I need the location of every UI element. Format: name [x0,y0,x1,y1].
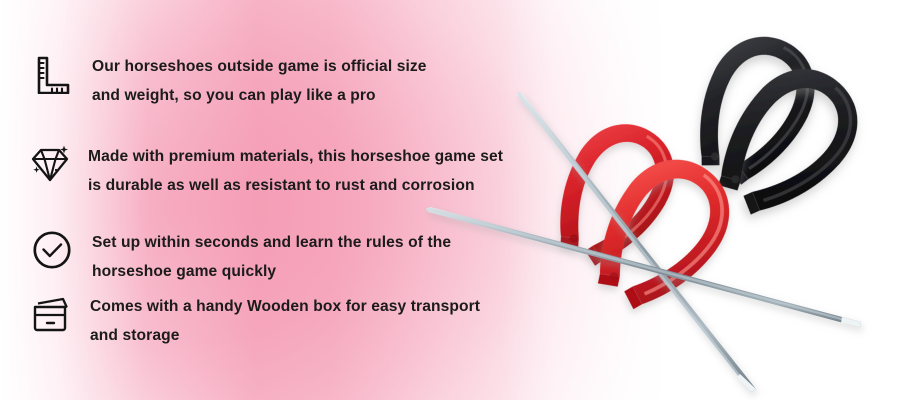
ruler-square-icon [30,52,74,96]
check-circle-icon [30,228,74,272]
feature-text: Our horseshoes outside game is official … [92,52,427,110]
diamond-sparkle-icon [28,142,72,186]
storage-box-icon [30,292,74,336]
product-feature-banner: Our horseshoes outside game is official … [0,0,920,400]
feature-item-size-weight: Our horseshoes outside game is official … [30,52,427,110]
product-photo [380,0,920,400]
